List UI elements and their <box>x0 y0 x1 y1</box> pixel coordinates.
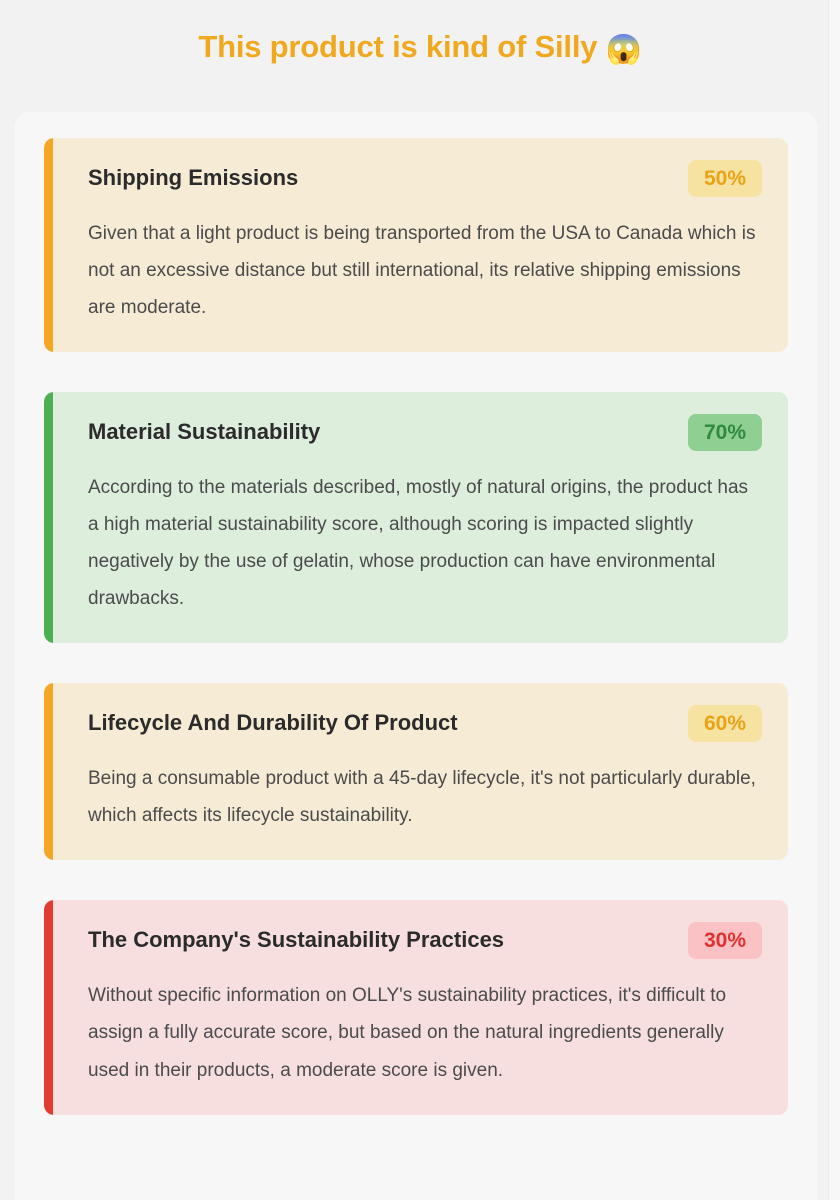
card-description: According to the materials described, mo… <box>88 469 762 617</box>
card-description: Without specific information on OLLY's s… <box>88 977 762 1088</box>
card-title: The Company's Sustainability Practices <box>88 922 504 954</box>
card-description: Given that a light product is being tran… <box>88 215 762 326</box>
card-accent-bar <box>44 683 53 860</box>
card-header: Lifecycle And Durability Of Product 60% <box>88 705 762 742</box>
card-title: Material Sustainability <box>88 414 320 446</box>
score-badge: 50% <box>688 160 762 197</box>
score-card-company-sustainability-practices[interactable]: The Company's Sustainability Practices 3… <box>44 900 788 1114</box>
card-header: The Company's Sustainability Practices 3… <box>88 922 762 959</box>
score-badge: 60% <box>688 705 762 742</box>
card-header: Shipping Emissions 50% <box>88 160 762 197</box>
page-title-text: This product is kind of Silly <box>198 29 597 64</box>
score-badge: 70% <box>688 414 762 451</box>
card-header: Material Sustainability 70% <box>88 414 762 451</box>
card-title: Lifecycle And Durability Of Product <box>88 705 458 737</box>
sustainability-report-page: This product is kind of Silly 😱 Shipping… <box>0 0 840 1200</box>
card-description: Being a consumable product with a 45-day… <box>88 760 762 834</box>
card-accent-bar <box>44 392 53 643</box>
score-card-material-sustainability[interactable]: Material Sustainability 70% According to… <box>44 392 788 643</box>
score-card-shipping-emissions[interactable]: Shipping Emissions 50% Given that a ligh… <box>44 138 788 352</box>
card-accent-bar <box>44 138 53 352</box>
score-card-list: Shipping Emissions 50% Given that a ligh… <box>44 138 788 1115</box>
page-title: This product is kind of Silly 😱 <box>0 0 840 68</box>
scores-panel: Shipping Emissions 50% Given that a ligh… <box>14 112 818 1200</box>
score-badge: 30% <box>688 922 762 959</box>
adjacent-panel-edge <box>828 0 840 1200</box>
face-screaming-in-fear-emoji: 😱 <box>606 34 642 66</box>
card-accent-bar <box>44 900 53 1114</box>
card-title: Shipping Emissions <box>88 160 298 192</box>
score-card-lifecycle-durability[interactable]: Lifecycle And Durability Of Product 60% … <box>44 683 788 860</box>
